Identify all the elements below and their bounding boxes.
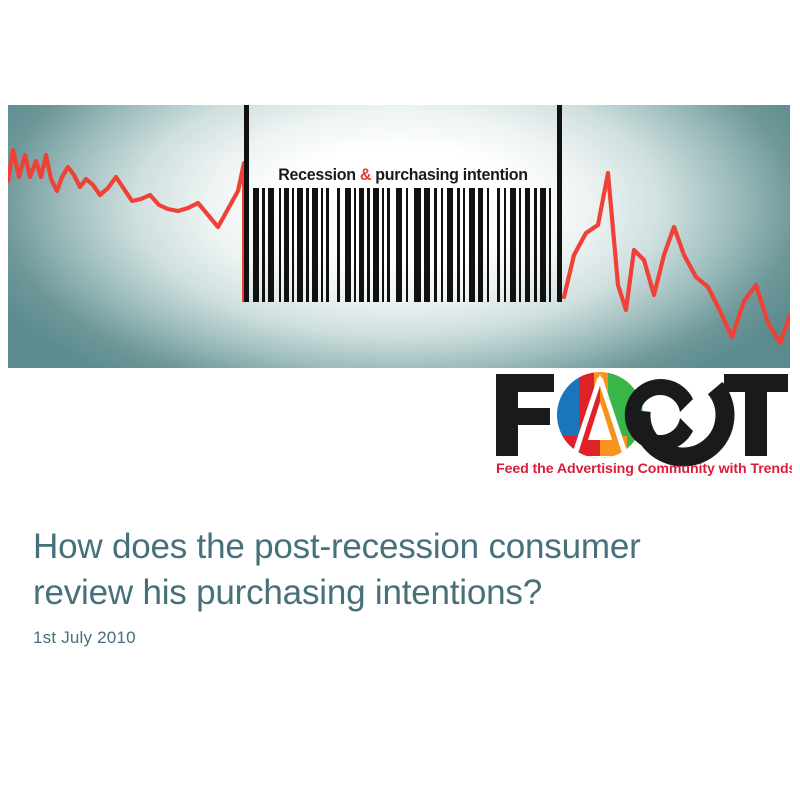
barcode-title-ampersand: & bbox=[360, 166, 371, 184]
barcode-bars bbox=[244, 188, 562, 302]
slide-date: 1st July 2010 bbox=[33, 628, 136, 648]
banner-inner: Recession & purchasing intention bbox=[8, 105, 790, 368]
logo-tagline: Feed the Advertising Community with Tren… bbox=[496, 461, 792, 477]
page-title-line-2: review his purchasing intentions? bbox=[33, 570, 763, 616]
barcode-graphic: Recession & purchasing intention bbox=[244, 162, 562, 302]
presentation-slide: Recession & purchasing intention bbox=[0, 0, 800, 800]
barcode-title-row: Recession & purchasing intention bbox=[244, 162, 562, 188]
fact-logo: Feed the Advertising Community with Tren… bbox=[492, 368, 792, 480]
barcode-title-part1: Recession bbox=[278, 166, 360, 184]
page-title: How does the post-recession consumer rev… bbox=[33, 524, 763, 616]
logo-letter-f bbox=[496, 374, 554, 456]
line-series-right bbox=[564, 173, 790, 343]
barcode-title-text: Recession & purchasing intention bbox=[254, 165, 553, 185]
barcode-title-part2: purchasing intention bbox=[371, 166, 528, 184]
line-series-left bbox=[8, 150, 244, 227]
page-title-line-1: How does the post-recession consumer bbox=[33, 524, 763, 570]
barcode-bars-svg bbox=[244, 188, 562, 302]
title-banner-image: Recession & purchasing intention bbox=[8, 105, 790, 368]
fact-logo-svg: Feed the Advertising Community with Tren… bbox=[492, 368, 792, 480]
